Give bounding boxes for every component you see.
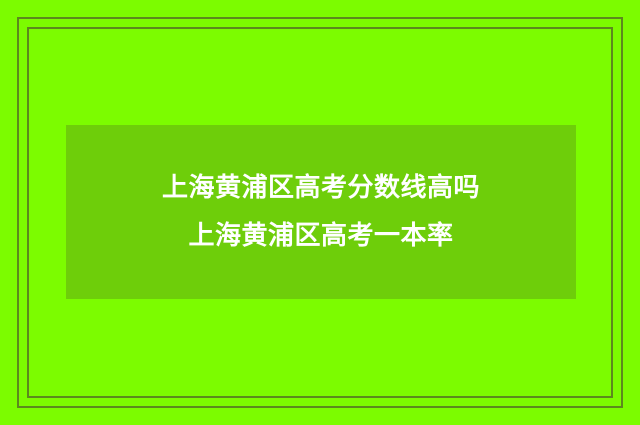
- headline-line-2: 上海黄浦区高考一本率: [188, 221, 453, 251]
- headline-line-1: 上海黄浦区高考分数线高吗: [162, 173, 480, 203]
- image-canvas: 上海黄浦区高考分数线高吗 上海黄浦区高考一本率: [0, 0, 640, 425]
- headline-panel: 上海黄浦区高考分数线高吗 上海黄浦区高考一本率: [66, 125, 576, 299]
